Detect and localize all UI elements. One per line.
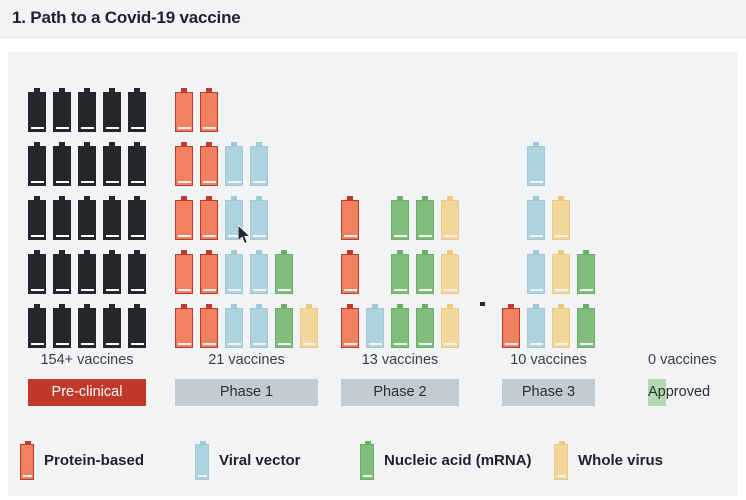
chart-legend: Protein-basedViral vectorNucleic acid (m…: [8, 436, 738, 496]
vaccine-vial-icon: [28, 142, 46, 186]
vaccine-vial-icon: [103, 142, 121, 186]
vaccine-vial-icon: [225, 250, 243, 294]
legend-swatch-viral: [195, 444, 209, 480]
vaccine-vial-icon: [175, 196, 193, 240]
vaccine-vial-icon: [527, 304, 545, 348]
vaccine-vial-icon: [128, 250, 146, 294]
vaccine-vial-icon: [128, 304, 146, 348]
vaccine-vial-icon: [441, 196, 459, 240]
vaccine-vial-icon: [200, 142, 218, 186]
legend-label: Protein-based: [44, 452, 144, 469]
vaccine-vial-icon: [103, 250, 121, 294]
vaccine-vial-icon: [250, 250, 268, 294]
vaccine-vial-icon: [225, 304, 243, 348]
vaccine-vial-icon: [275, 250, 293, 294]
vaccine-vial-icon: [527, 196, 545, 240]
vaccine-vial-icon: [175, 142, 193, 186]
vaccine-vial-icon: [103, 88, 121, 132]
vaccine-vial-icon: [175, 88, 193, 132]
vaccine-vial-icon: [175, 304, 193, 348]
vaccine-vial-icon: [53, 196, 71, 240]
vaccine-vial-icon: [527, 250, 545, 294]
vaccine-vial-icon: [527, 142, 545, 186]
vaccine-vial-icon: [78, 142, 96, 186]
legend-label: Viral vector: [219, 452, 300, 469]
vaccine-vial-icon: [78, 88, 96, 132]
vaccine-vial-icon: [128, 88, 146, 132]
page-title: 1. Path to a Covid-19 vaccine: [12, 8, 241, 28]
vaccine-vial-icon: [78, 196, 96, 240]
chart-panel: 154+ vaccinesPre-clinical21 vaccinesPhas…: [8, 52, 738, 492]
vaccine-vial-icon: [577, 304, 595, 348]
stage-badge-phase-3[interactable]: Phase 3: [502, 379, 595, 406]
count-label-phase-2: 13 vaccines: [341, 352, 459, 368]
vaccine-vial-icon: [391, 250, 409, 294]
vaccine-vial-icon: [103, 196, 121, 240]
count-label-approved: 0 vaccines: [648, 352, 666, 368]
vaccine-vial-icon: [552, 250, 570, 294]
vaccine-vial-icon: [225, 142, 243, 186]
vaccine-vial-icon: [341, 250, 359, 294]
vaccine-vial-icon: [250, 142, 268, 186]
vaccine-vial-icon: [28, 88, 46, 132]
vaccine-vial-icon: [366, 304, 384, 348]
vaccine-vial-icon: [552, 304, 570, 348]
vaccine-vial-icon: [53, 142, 71, 186]
vaccine-vial-icon: [53, 88, 71, 132]
vaccine-vial-icon: [28, 304, 46, 348]
legend-swatch-whole: [554, 444, 568, 480]
legend-label: Nucleic acid (mRNA): [384, 452, 532, 469]
mouse-cursor-icon: [238, 225, 252, 245]
count-label-pre-clinical: 154+ vaccines: [28, 352, 146, 368]
vaccine-vial-icon: [502, 304, 520, 348]
vaccine-vial-icon: [416, 196, 434, 240]
vaccine-vial-icon: [128, 196, 146, 240]
stage-badge-phase-2[interactable]: Phase 2: [341, 379, 459, 406]
vaccine-vial-icon: [78, 304, 96, 348]
vaccine-vial-icon: [250, 196, 268, 240]
vaccine-vial-icon: [416, 250, 434, 294]
chart-header: 1. Path to a Covid-19 vaccine: [0, 0, 746, 38]
vaccine-vial-icon: [391, 304, 409, 348]
vaccine-vial-icon: [441, 250, 459, 294]
vaccine-vial-icon: [552, 196, 570, 240]
vaccine-vial-icon: [200, 250, 218, 294]
vaccine-vial-icon: [103, 304, 121, 348]
stage-badge-approved[interactable]: Approved: [648, 379, 666, 406]
vaccine-vial-icon: [577, 250, 595, 294]
legend-label: Whole virus: [578, 452, 663, 469]
vaccine-vial-icon: [250, 304, 268, 348]
vaccine-vial-icon: [28, 196, 46, 240]
vaccine-vial-icon: [78, 250, 96, 294]
vaccine-vial-icon: [53, 304, 71, 348]
vaccine-vial-icon: [175, 250, 193, 294]
vaccine-vial-icon: [300, 304, 318, 348]
vaccine-vial-icon: [416, 304, 434, 348]
count-label-phase-3: 10 vaccines: [502, 352, 595, 368]
legend-swatch-protein: [20, 444, 34, 480]
vaccine-vial-icon: [275, 304, 293, 348]
vaccine-vial-icon: [28, 250, 46, 294]
vaccine-vial-icon: [128, 142, 146, 186]
vaccine-vial-icon: [441, 304, 459, 348]
vaccine-vial-icon: [200, 196, 218, 240]
stage-badge-phase-1[interactable]: Phase 1: [175, 379, 318, 406]
stage-badge-pre-clinical[interactable]: Pre-clinical: [28, 379, 146, 406]
vaccine-vial-icon: [200, 88, 218, 132]
count-label-phase-1: 21 vaccines: [175, 352, 318, 368]
vaccine-vial-icon: [391, 196, 409, 240]
legend-swatch-nucleic: [360, 444, 374, 480]
stray-marker-icon: [480, 302, 485, 306]
vaccine-vial-icon: [53, 250, 71, 294]
vaccine-vial-icon: [341, 196, 359, 240]
vaccine-vial-icon: [341, 304, 359, 348]
vaccine-vial-icon: [200, 304, 218, 348]
